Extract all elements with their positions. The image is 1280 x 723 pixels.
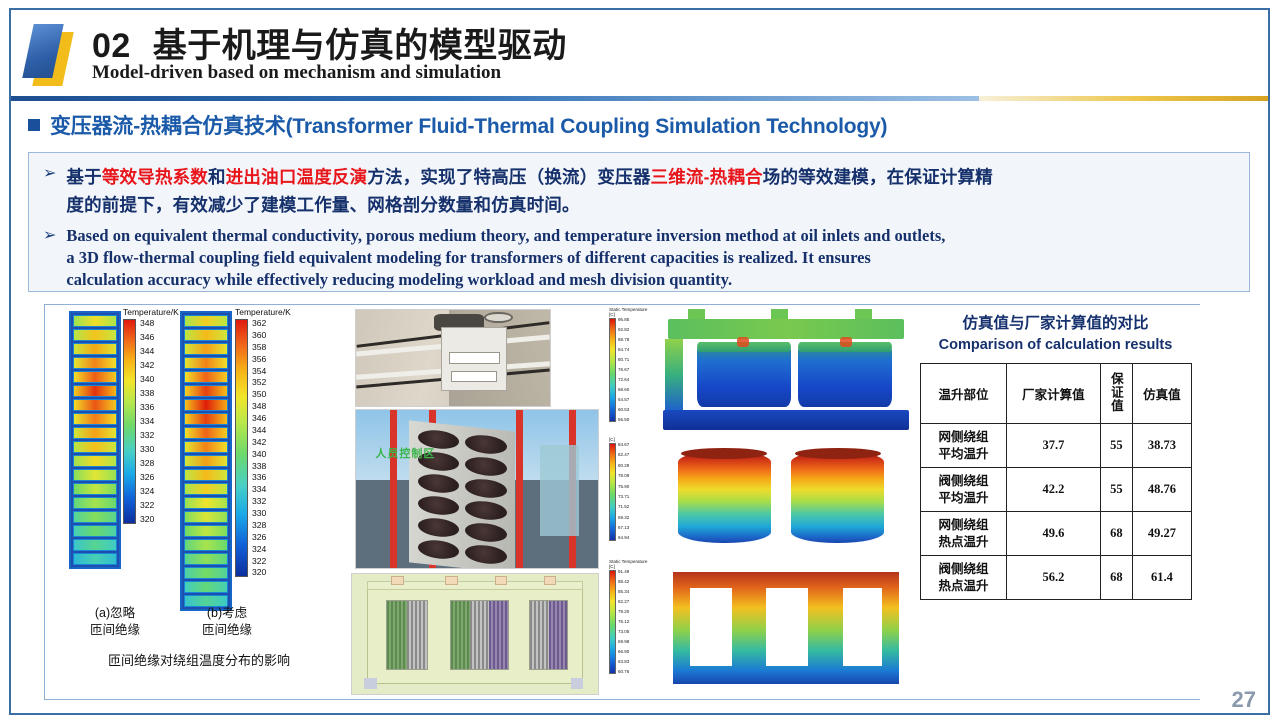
cooler-fan-icon [465, 521, 506, 543]
winding-disc [184, 315, 228, 327]
table-cell-guaranteed: 68 [1100, 556, 1132, 600]
cn-seg-6-highlight: 三维流-热耦合 [651, 167, 763, 187]
table-cell-simulated: 48.76 [1132, 468, 1191, 512]
table-cell-simulated: 49.27 [1132, 512, 1191, 556]
winding-disc [184, 399, 228, 411]
winding-disc [73, 385, 117, 397]
cfd-legend-3-tick: 76.12 [618, 620, 629, 625]
winding-contour-group: Temperature/K 34834634434234033833633433… [45, 305, 347, 699]
winding-disc [73, 483, 117, 495]
cfd-legend-2-tick: 64.94 [618, 536, 629, 541]
caption-line: 匝间绝缘 [167, 622, 287, 639]
slide-border-right [1268, 8, 1270, 715]
winding-disc [184, 371, 228, 383]
table-cell-simulated: 61.4 [1132, 556, 1191, 600]
figure-caption-b: (b)考虑匝间绝缘 [167, 605, 287, 639]
colorbar-b-tick: 344 [252, 426, 266, 435]
colorbar-b-tick: 340 [252, 450, 266, 459]
colorbar-b-title: Temperature/K [235, 307, 291, 317]
caption-line: (b)考虑 [167, 605, 287, 622]
bullet-en-line-1: Based on equivalent thermal conductivity… [66, 225, 945, 247]
summary-box: ➢ 基于等效导热系数和进出油口温度反演方法，实现了特高压（换流）变压器三维流-热… [28, 152, 1250, 292]
colorbar-a-tick: 330 [140, 445, 154, 454]
table-cell-guaranteed: 68 [1100, 512, 1132, 556]
caption-line: (a)忽略 [55, 605, 175, 622]
colorbar-a: Temperature/K 34834634434234033833633433… [123, 307, 179, 524]
cfd-legend-3-tick: 73.05 [618, 630, 629, 635]
colorbar-b-tick: 320 [252, 568, 266, 577]
winding-disc-column-b [180, 311, 232, 611]
caption-line: 匝间绝缘 [55, 622, 175, 639]
table-cell-part: 阀侧绕组平均温升 [921, 468, 1007, 512]
cfd-legend-2-unit: [C] [609, 437, 661, 442]
cfd-legend-3-gradient [609, 570, 616, 674]
winding-disc [184, 455, 228, 467]
colorbar-a-title: Temperature/K [123, 307, 179, 317]
winding-cylinder-right [791, 451, 884, 543]
table-cell-guaranteed: 55 [1100, 424, 1132, 468]
arrow-bullet-icon: ➢ [43, 163, 56, 219]
table-cell-factory: 42.2 [1007, 468, 1101, 512]
slide-root: 02 基于机理与仿真的模型驱动 Model-driven based on me… [0, 0, 1280, 723]
cooler-fan-icon [465, 433, 506, 455]
table-row: 网侧绕组热点温升49.66849.27 [921, 512, 1192, 556]
colorbar-a-tick: 340 [140, 375, 154, 384]
winding-disc [73, 553, 117, 565]
colorbar-b-tick: 332 [252, 497, 266, 506]
colorbar-b-tick: 338 [252, 462, 266, 471]
table-row: 网侧绕组平均温升37.75538.73 [921, 424, 1192, 468]
cfd-legend-3-tick: 79.20 [618, 610, 629, 615]
colorbar-b-tick: 324 [252, 545, 266, 554]
photo-wireless-temperature-sensor [355, 309, 551, 407]
colorbar-a-tick: 334 [140, 417, 154, 426]
colorbar-b-tick: 358 [252, 343, 266, 352]
cfd-legend-3: Static Temperature [C] 91.4988.4285.3482… [609, 559, 661, 674]
colorbar-a-tick: 344 [140, 347, 154, 356]
cfd-legend-1-ticks: 96.8592.8288.7884.7480.7176.6772.6468.60… [618, 318, 629, 422]
bullet-cn-line-1: 基于等效导热系数和进出油口温度反演方法，实现了特高压（换流）变压器三维流-热耦合… [66, 163, 992, 191]
winding-contour-a [69, 311, 121, 569]
table-header-guaranteed: 保证值 [1100, 364, 1132, 424]
cooler-fan-icon [418, 538, 459, 560]
cfd-legend-1-unit: [C] [609, 312, 661, 317]
winding-disc [73, 539, 117, 551]
cooler-fan-icon [418, 494, 459, 516]
page-title-cn: 02 基于机理与仿真的模型驱动 [92, 18, 567, 67]
colorbar-a-tick: 342 [140, 361, 154, 370]
photo-cooler-fan-bank: 人员控制区 [355, 409, 599, 569]
colorbar-b-tick: 346 [252, 414, 266, 423]
winding-disc [73, 399, 117, 411]
slide-border-left [9, 8, 11, 715]
cfd-legend-2-gradient [609, 443, 616, 541]
winding-disc [184, 469, 228, 481]
slide-border-bottom [9, 713, 1270, 715]
winding-disc [73, 427, 117, 439]
table-header-part: 温升部位 [921, 364, 1007, 424]
bullet-cn-line-2: 度的前提下，有效减少了建模工作量、网格剖分数量和仿真时间。 [66, 191, 992, 219]
colorbar-b-tick: 360 [252, 331, 266, 340]
table-header-factory: 厂家计算值 [1007, 364, 1101, 424]
cfd-legend-2-tick: 75.90 [618, 485, 629, 490]
winding-disc [184, 427, 228, 439]
page-title-number: 02 [92, 27, 131, 65]
cn-seg-4-highlight: 进出油口温度反演 [226, 167, 368, 187]
cfd-legend-2-tick: 73.71 [618, 495, 629, 500]
cfd-image-tank [663, 309, 909, 435]
cfd-legend-2-tick: 80.28 [618, 464, 629, 469]
cfd-legend-3-ticks: 91.4988.4285.3482.2779.2076.1273.0569.98… [618, 570, 629, 674]
comparison-table-panel: 仿真值与厂家计算值的对比 Comparison of calculation r… [910, 305, 1201, 699]
table-cell-part: 阀侧绕组热点温升 [921, 556, 1007, 600]
colorbar-a-tick: 338 [140, 389, 154, 398]
cooler-fan-icon [465, 455, 506, 477]
cfd-legend-1-tick: 84.74 [618, 348, 629, 353]
cfd-render-windings: [C] 84.6782.4780.2878.0975.9073.7171.526… [609, 437, 909, 559]
winding-disc [73, 441, 117, 453]
cfd-legend-1-tick: 92.82 [618, 328, 629, 333]
photo-banner-text: 人员控制区 [375, 445, 435, 461]
cooler-fan-icon [418, 516, 459, 538]
square-bullet-icon [28, 119, 40, 131]
cfd-image-windings [663, 439, 909, 557]
colorbar-a-tick: 324 [140, 487, 154, 496]
winding-disc [73, 329, 117, 341]
diagram-transformer-section [351, 573, 599, 695]
cfd-legend-1-gradient [609, 318, 616, 422]
winding-cylinder-left [678, 451, 771, 543]
winding-disc [73, 413, 117, 425]
cfd-legend-2: [C] 84.6782.4780.2878.0975.9073.7171.526… [609, 437, 661, 541]
colorbar-a-tick: 322 [140, 501, 154, 510]
colorbar-b-tick: 356 [252, 355, 266, 364]
cn-seg-3: 和 [208, 167, 226, 187]
comparison-table: 温升部位 厂家计算值 保证值 仿真值 网侧绕组平均温升37.75538.73阀侧… [920, 363, 1192, 600]
page-number: 27 [1232, 687, 1256, 713]
table-title-cn: 仿真值与厂家计算值的对比 [910, 311, 1201, 333]
colorbar-a-tick: 348 [140, 319, 154, 328]
winding-disc [184, 483, 228, 495]
colorbar-b-tick: 348 [252, 402, 266, 411]
cfd-legend-3-tick: 85.34 [618, 590, 629, 595]
winding-contour-b [180, 311, 232, 611]
colorbar-a-tick: 320 [140, 515, 154, 524]
cfd-legend-1: Static Temperature [C] 96.8592.8288.7884… [609, 307, 661, 422]
cfd-legend-1-tick: 56.50 [618, 418, 629, 423]
winding-disc [184, 385, 228, 397]
cfd-render-group: Static Temperature [C] 96.8592.8288.7884… [605, 305, 910, 699]
photo-group: 人员控制区 [347, 305, 605, 699]
colorbar-b: Temperature/K 36236035835635435235034834… [235, 307, 291, 577]
cfd-legend-2-ticks: 84.6782.4780.2878.0975.9073.7171.5269.32… [618, 443, 629, 541]
cooler-fan-icon [418, 472, 459, 494]
winding-disc [73, 371, 117, 383]
winding-disc [184, 567, 228, 579]
cn-seg-2-highlight: 等效导热系数 [102, 167, 208, 187]
winding-disc [73, 455, 117, 467]
table-cell-simulated: 38.73 [1132, 424, 1191, 468]
winding-disc [184, 343, 228, 355]
winding-disc [184, 525, 228, 537]
cfd-legend-1-tick: 76.67 [618, 368, 629, 373]
winding-disc [184, 553, 228, 565]
colorbar-b-tick: 326 [252, 533, 266, 542]
cfd-legend-3-tick: 63.83 [618, 660, 629, 665]
colorbar-b-tick: 330 [252, 509, 266, 518]
cn-seg-5: 方法，实现了特高压（换流）变压器 [367, 167, 650, 187]
colorbar-b-tick: 334 [252, 485, 266, 494]
cfd-image-core [663, 561, 909, 695]
colorbar-b-tick: 342 [252, 438, 266, 447]
colorbar-a-ticks: 3483463443423403383363343323303283263243… [140, 319, 154, 524]
colorbar-a-tick: 346 [140, 333, 154, 342]
winding-disc [184, 539, 228, 551]
table-header-row: 温升部位 厂家计算值 保证值 仿真值 [921, 364, 1192, 424]
colorbar-a-tick: 326 [140, 473, 154, 482]
cn-seg-7: 场的等效建模，在保证计算精 [763, 167, 993, 187]
winding-disc [184, 357, 228, 369]
table-header-simulated: 仿真值 [1132, 364, 1191, 424]
colorbar-a-tick: 332 [140, 431, 154, 440]
table-cell-part: 网侧绕组热点温升 [921, 512, 1007, 556]
cfd-legend-1-tick: 68.60 [618, 388, 629, 393]
winding-disc-column-a [69, 311, 121, 569]
cfd-legend-3-tick: 82.27 [618, 600, 629, 605]
winding-disc [184, 497, 228, 509]
section-heading-label: 变压器流-热耦合仿真技术(Transformer Fluid-Thermal C… [50, 110, 887, 140]
table-row: 阀侧绕组平均温升42.25548.76 [921, 468, 1192, 512]
cfd-legend-1-tick: 60.53 [618, 408, 629, 413]
colorbar-a-gradient [123, 319, 136, 524]
header-divider-blue [11, 96, 979, 101]
winding-disc [73, 525, 117, 537]
section-heading: 变压器流-热耦合仿真技术(Transformer Fluid-Thermal C… [28, 110, 887, 140]
table-cell-factory: 56.2 [1007, 556, 1101, 600]
colorbar-b-tick: 350 [252, 390, 266, 399]
header-divider-gold [979, 96, 1268, 101]
cn-seg-1: 基于 [66, 167, 101, 187]
winding-disc [184, 581, 228, 593]
cfd-legend-2-tick: 71.52 [618, 505, 629, 510]
table-cell-factory: 49.6 [1007, 512, 1101, 556]
cfd-legend-3-tick: 88.42 [618, 580, 629, 585]
cfd-legend-1-tick: 88.78 [618, 338, 629, 343]
table-cell-part: 网侧绕组平均温升 [921, 424, 1007, 468]
cfd-legend-3-tick: 60.76 [618, 670, 629, 675]
cfd-legend-3-tick: 69.98 [618, 640, 629, 645]
figure-caption-overall: 匝间绝缘对绕组温度分布的影响 [51, 650, 347, 669]
table-title-en: Comparison of calculation results [910, 337, 1201, 353]
cfd-legend-2-tick: 78.09 [618, 474, 629, 479]
winding-disc [73, 469, 117, 481]
winding-disc [184, 413, 228, 425]
table-row: 阀侧绕组热点温升56.26861.4 [921, 556, 1192, 600]
arrow-bullet-icon-2: ➢ [43, 225, 56, 290]
colorbar-b-tick: 352 [252, 378, 266, 387]
figure-caption-a: (a)忽略匝间绝缘 [55, 605, 175, 639]
page-title-en: Model-driven based on mechanism and simu… [92, 62, 501, 84]
winding-disc [73, 315, 117, 327]
cfd-legend-1-tick: 64.57 [618, 398, 629, 403]
cfd-legend-1-tick: 80.71 [618, 358, 629, 363]
table-cell-factory: 37.7 [1007, 424, 1101, 468]
cfd-legend-3-unit: [C] [609, 564, 661, 569]
content-panel: Temperature/K 34834634434234033833633433… [44, 304, 1200, 700]
colorbar-b-tick: 322 [252, 557, 266, 566]
logo-mark [22, 18, 84, 86]
winding-disc [73, 357, 117, 369]
winding-disc [73, 343, 117, 355]
colorbar-b-ticks: 3623603583563543523503483463443423403383… [252, 319, 266, 577]
cfd-legend-3-tick: 66.90 [618, 650, 629, 655]
winding-disc [184, 329, 228, 341]
page-title-text: 基于机理与仿真的模型驱动 [153, 27, 567, 65]
cfd-legend-1-tick: 96.85 [618, 318, 629, 323]
table-cell-guaranteed: 55 [1100, 468, 1132, 512]
colorbar-a-tick: 328 [140, 459, 154, 468]
cfd-legend-2-tick: 69.32 [618, 516, 629, 521]
bullet-en-line-2: a 3D flow-thermal coupling field equival… [66, 247, 945, 269]
colorbar-b-tick: 354 [252, 367, 266, 376]
colorbar-b-tick: 328 [252, 521, 266, 530]
slide-border-top [9, 8, 1270, 10]
cfd-render-core-frame: Static Temperature [C] 91.4988.4285.3482… [609, 559, 909, 697]
winding-disc [73, 511, 117, 523]
colorbar-b-tick: 362 [252, 319, 266, 328]
winding-disc [73, 497, 117, 509]
colorbar-b-gradient [235, 319, 248, 577]
cfd-legend-1-tick: 72.64 [618, 378, 629, 383]
bullet-en-line-3: calculation accuracy while effectively r… [66, 269, 945, 291]
cfd-legend-2-tick: 82.47 [618, 453, 629, 458]
header-divider [11, 96, 1268, 104]
winding-disc [184, 511, 228, 523]
colorbar-b-tick: 336 [252, 473, 266, 482]
cooler-fan-icon [465, 543, 506, 565]
cfd-legend-3-tick: 91.49 [618, 570, 629, 575]
cooler-fan-icon [465, 499, 506, 521]
cfd-legend-2-tick: 84.67 [618, 443, 629, 448]
bullet-item-cn: ➢ 基于等效导热系数和进出油口温度反演方法，实现了特高压（换流）变压器三维流-热… [43, 163, 1239, 219]
cfd-render-tank-assembly: Static Temperature [C] 96.8592.8288.7884… [609, 307, 909, 437]
colorbar-a-tick: 336 [140, 403, 154, 412]
winding-disc [184, 441, 228, 453]
cooler-fan-icon [465, 477, 506, 499]
bullet-item-en: ➢ Based on equivalent thermal conductivi… [43, 225, 1239, 290]
cfd-legend-2-tick: 67.13 [618, 526, 629, 531]
